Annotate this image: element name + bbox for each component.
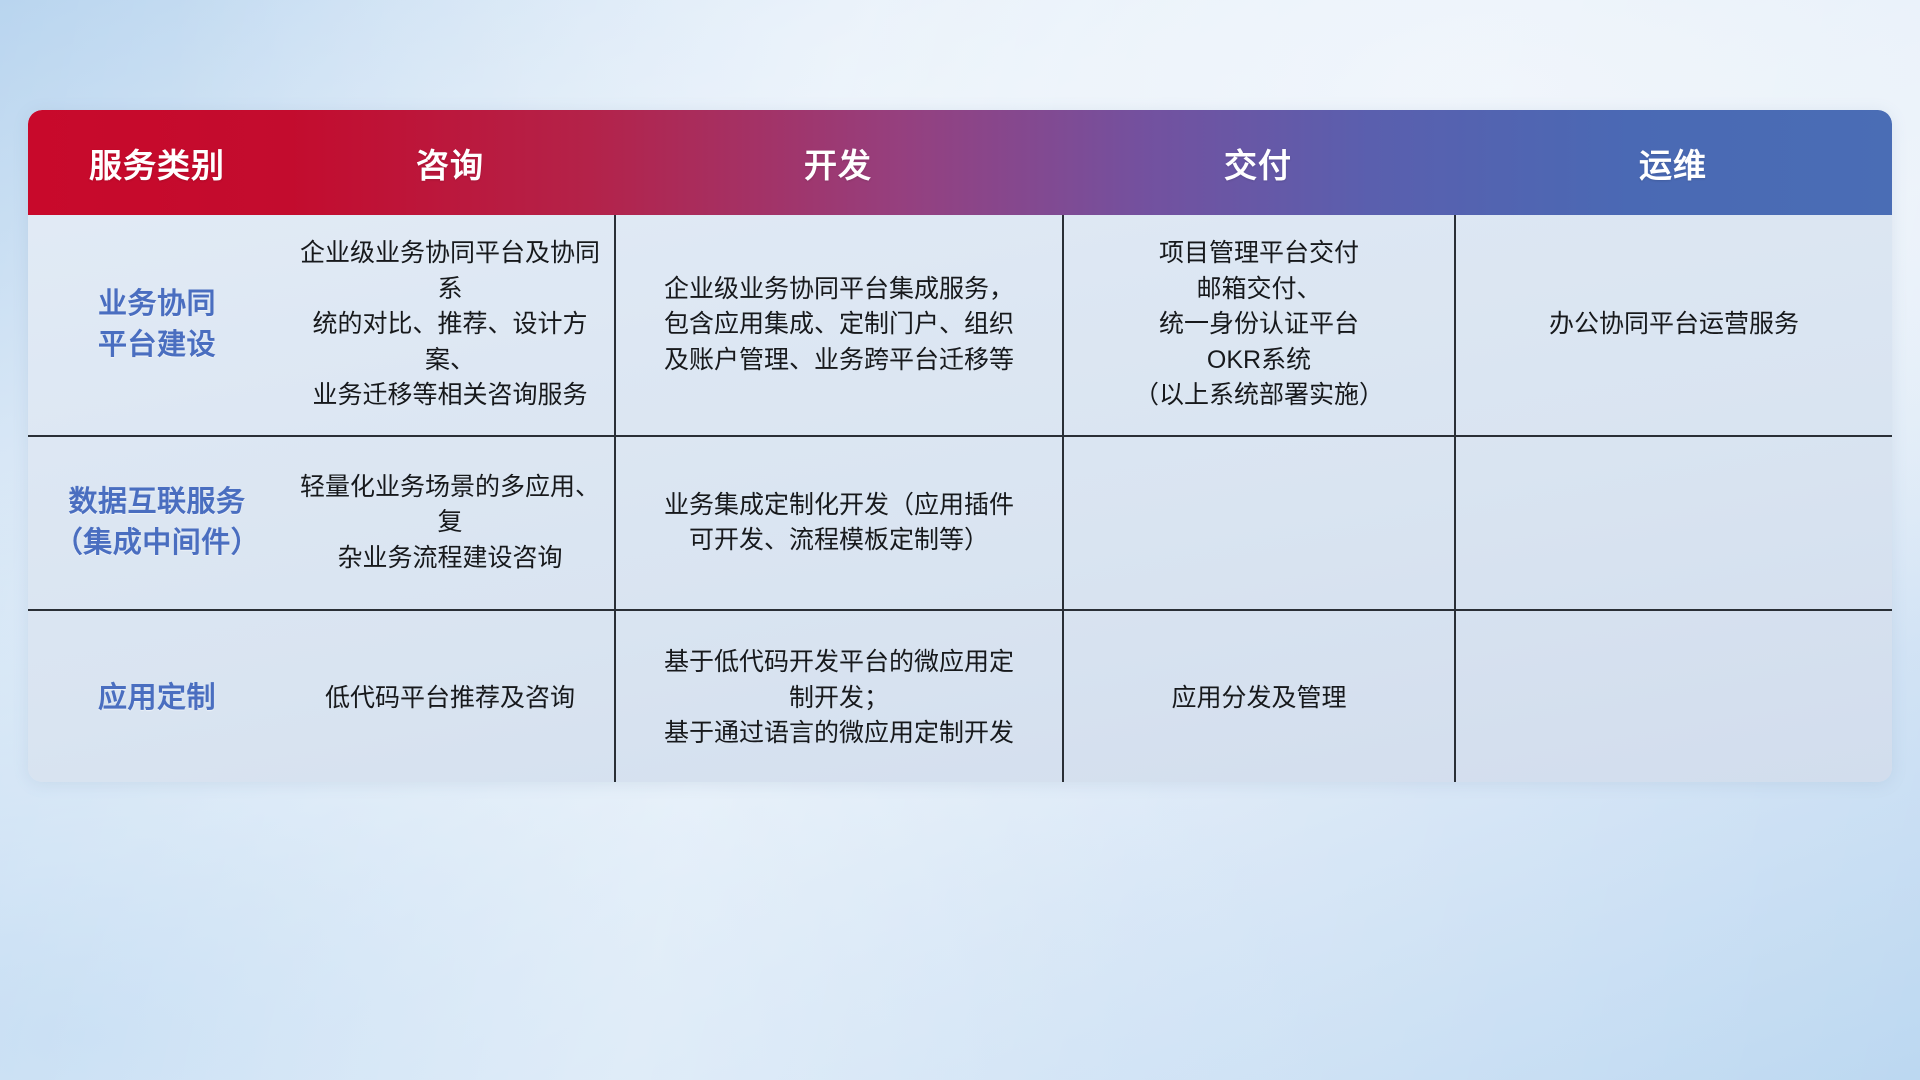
cell-operations bbox=[1454, 437, 1892, 609]
cell-development: 基于低代码开发平台的微应用定 制开发； 基于通过语言的微应用定制开发 bbox=[614, 611, 1062, 782]
table-row: 应用定制 低代码平台推荐及咨询 基于低代码开发平台的微应用定 制开发； 基于通过… bbox=[28, 609, 1892, 782]
cell-consulting: 企业级业务协同平台及协同系 统的对比、推荐、设计方案、 业务迁移等相关咨询服务 bbox=[286, 215, 614, 435]
cell-delivery bbox=[1062, 437, 1454, 609]
column-header-delivery: 交付 bbox=[1062, 110, 1454, 215]
column-header-operations: 运维 bbox=[1454, 110, 1892, 215]
cell-delivery: 应用分发及管理 bbox=[1062, 611, 1454, 782]
column-header-consulting: 咨询 bbox=[286, 110, 614, 215]
cell-consulting: 低代码平台推荐及咨询 bbox=[286, 611, 614, 782]
cell-development: 企业级业务协同平台集成服务， 包含应用集成、定制门户、组织 及账户管理、业务跨平… bbox=[614, 215, 1062, 435]
cell-delivery: 项目管理平台交付 邮箱交付、 统一身份认证平台 OKR系统 （以上系统部署实施） bbox=[1062, 215, 1454, 435]
row-label: 数据互联服务 （集成中间件） bbox=[28, 437, 286, 609]
column-header-category: 服务类别 bbox=[28, 110, 286, 215]
column-header-development: 开发 bbox=[614, 110, 1062, 215]
service-matrix-table: 服务类别 咨询 开发 交付 运维 业务协同 平台建设 企业级业务协同平台及协同系… bbox=[28, 110, 1892, 782]
table-row: 数据互联服务 （集成中间件） 轻量化业务场景的多应用、复 杂业务流程建设咨询 业… bbox=[28, 435, 1892, 609]
slide-canvas: 服务类别 咨询 开发 交付 运维 业务协同 平台建设 企业级业务协同平台及协同系… bbox=[0, 0, 1920, 1080]
cell-development: 业务集成定制化开发（应用插件 可开发、流程模板定制等） bbox=[614, 437, 1062, 609]
cell-consulting: 轻量化业务场景的多应用、复 杂业务流程建设咨询 bbox=[286, 437, 614, 609]
cell-operations bbox=[1454, 611, 1892, 782]
row-label: 应用定制 bbox=[28, 611, 286, 782]
cell-operations: 办公协同平台运营服务 bbox=[1454, 215, 1892, 435]
row-label: 业务协同 平台建设 bbox=[28, 215, 286, 435]
table-row: 业务协同 平台建设 企业级业务协同平台及协同系 统的对比、推荐、设计方案、 业务… bbox=[28, 215, 1892, 435]
table-header-row: 服务类别 咨询 开发 交付 运维 bbox=[28, 110, 1892, 215]
